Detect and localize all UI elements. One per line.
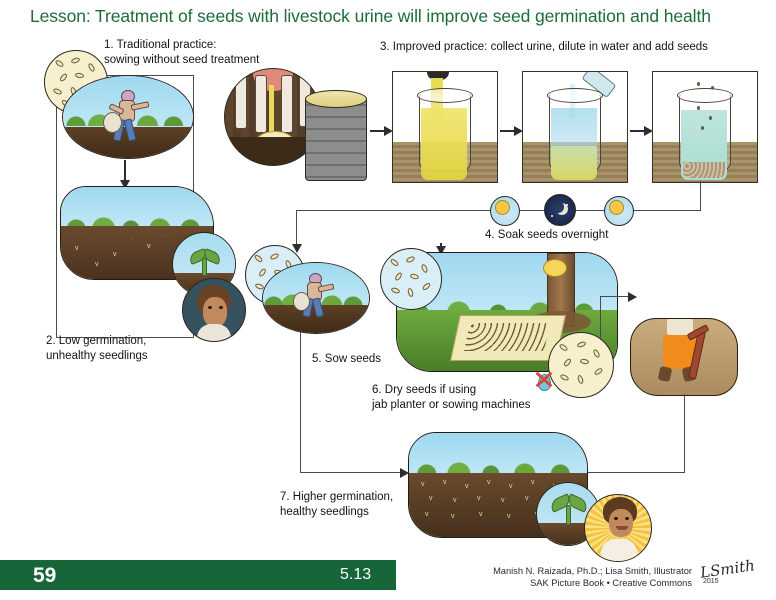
step5-down-line — [300, 332, 301, 472]
beaker-with-soaking-seeds — [652, 71, 758, 183]
urine-collection-barrel — [305, 97, 367, 181]
sun-in-sky-icon — [543, 259, 567, 277]
soak-left-vertical — [296, 210, 297, 248]
beaker-rim — [677, 88, 733, 103]
beaker-rim — [417, 88, 473, 103]
credits-text: Manish N. Raizada, Ph.D.; Lisa Smith, Il… — [462, 565, 692, 589]
step-3-caption: 3. Improved practice: collect urine, dil… — [380, 40, 776, 55]
moon-icon — [544, 194, 576, 226]
jab-down-line — [684, 394, 685, 472]
step-7-caption: 7. Higher germination, healthy seedlings — [280, 490, 460, 519]
drying-seeds-magnifier — [380, 248, 442, 310]
section-number: 5.13 — [340, 566, 371, 584]
arrow-1-line — [124, 160, 126, 182]
connector-left-vertical — [56, 75, 57, 337]
happy-farmer-portrait — [584, 494, 652, 562]
jab-connector-vertical — [600, 296, 601, 340]
page-title: Lesson: Treatment of seeds with livestoc… — [30, 6, 760, 27]
page-number: 59 — [33, 564, 56, 588]
jab-arrow-head — [628, 292, 637, 302]
field-right-horizontal — [578, 472, 685, 473]
lesson-page: Lesson: Treatment of seeds with livestoc… — [0, 0, 776, 600]
signature-year: 2015 — [703, 578, 719, 585]
beaker-pouring-urine — [392, 71, 498, 183]
soak-right-vertical — [700, 181, 701, 211]
worried-farmer-portrait — [182, 278, 246, 342]
footer-bar — [0, 560, 396, 590]
step7-left-horizontal — [300, 472, 408, 473]
beaker-adding-water — [522, 71, 628, 183]
step-4-caption: 4. Soak seeds overnight — [485, 228, 705, 243]
farmer-sowing-illustration — [62, 75, 194, 159]
beaker-rim — [547, 88, 603, 103]
step-2-caption: 2. Low germination, unhealthy seedlings — [46, 334, 246, 363]
barrel-urine-surface — [305, 90, 367, 108]
farmer-sowing-treated-seeds — [262, 262, 370, 334]
step-1-caption: 1. Traditional practice: sowing without … — [104, 38, 324, 67]
sun-icon — [490, 196, 520, 226]
step-6-caption: 6. Dry seeds if using jab planter or sow… — [372, 383, 622, 412]
sun-icon-next — [604, 196, 634, 226]
woman-with-jab-planter — [630, 318, 738, 396]
